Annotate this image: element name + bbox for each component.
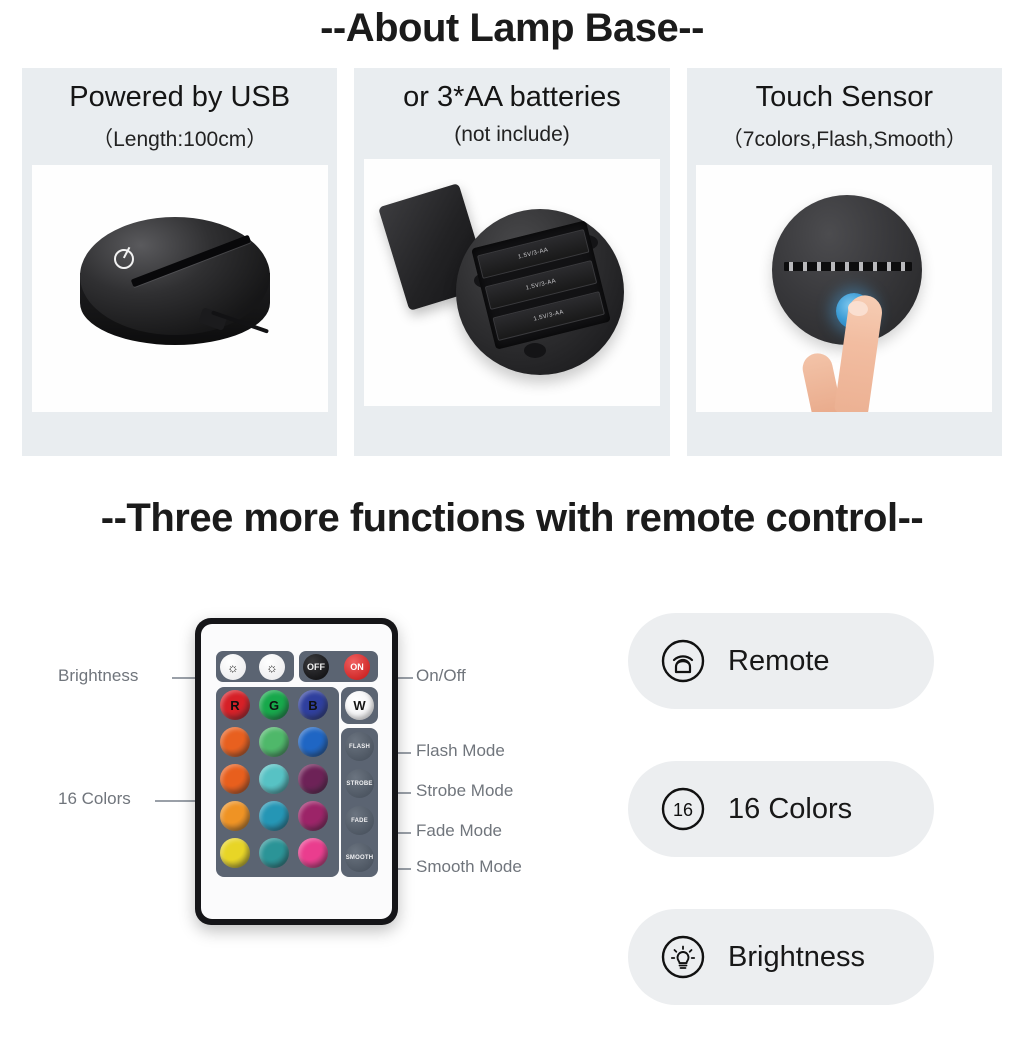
card-title: or 3*AA batteries xyxy=(403,80,621,115)
led-strip xyxy=(784,262,912,271)
color-button-2-2[interactable] xyxy=(298,764,328,794)
remote-signal-icon xyxy=(660,638,706,684)
flash-mode-button[interactable]: FLASH xyxy=(345,732,374,761)
feature-label: Remote xyxy=(728,645,830,678)
color-button-3-1[interactable] xyxy=(259,801,289,831)
touch-sensor-photo xyxy=(696,165,992,412)
color-button-1-0[interactable] xyxy=(220,727,250,757)
color-button-4-1[interactable] xyxy=(259,838,289,868)
color-button-3-2[interactable] xyxy=(298,801,328,831)
card-touch-sensor: Touch Sensor （7colors,Flash,Smooth） xyxy=(687,68,1002,456)
callout-on-off: On/Off xyxy=(416,666,466,686)
sixteen-circle-icon: 16 xyxy=(660,786,706,832)
color-button-2-0[interactable] xyxy=(220,764,250,794)
battery-compartment-photo: 1.5V/3-AA 1.5V/3-AA 1.5V/3-AA xyxy=(364,159,660,406)
color-button-3-0[interactable] xyxy=(220,801,250,831)
remote-face: ☼ ☼ OFF ON RGB W FLASHSTROBEFADESMOOTH xyxy=(201,624,392,919)
svg-text:16: 16 xyxy=(673,800,693,820)
color-button-g[interactable]: G xyxy=(259,690,289,720)
callout-fade-mode: Fade Mode xyxy=(416,821,502,841)
power-on-button[interactable]: ON xyxy=(344,654,370,680)
card-subtitle: （7colors,Flash,Smooth） xyxy=(722,123,967,153)
rubber-foot xyxy=(524,343,546,358)
color-button-2-1[interactable] xyxy=(259,764,289,794)
card-powered-by-usb: Powered by USB （Length:100cm） xyxy=(22,68,337,456)
callout-smooth-mode: Smooth Mode xyxy=(416,857,522,877)
page-title-about-lamp-base: --About Lamp Base-- xyxy=(0,6,1024,51)
feature-pill-list: Remote 16 16 Colors xyxy=(628,613,934,1057)
feature-pill-16-colors[interactable]: 16 16 Colors xyxy=(628,761,934,857)
color-button-r[interactable]: R xyxy=(220,690,250,720)
white-color-button[interactable]: W xyxy=(345,691,374,720)
color-button-1-1[interactable] xyxy=(259,727,289,757)
card-subtitle: （Length:100cm） xyxy=(92,123,267,153)
card-subtitle: (not include) xyxy=(454,123,570,147)
color-button-b[interactable]: B xyxy=(298,690,328,720)
brightness-down-button[interactable]: ☼ xyxy=(259,654,285,680)
brightness-up-button[interactable]: ☼ xyxy=(220,654,246,680)
card-title: Powered by USB xyxy=(69,80,290,115)
section-title-remote-functions: --Three more functions with remote contr… xyxy=(0,496,1024,541)
lamp-base-top xyxy=(80,217,270,335)
fade-mode-button[interactable]: FADE xyxy=(345,806,374,835)
feature-pill-brightness[interactable]: Brightness xyxy=(628,909,934,1005)
power-off-button[interactable]: OFF xyxy=(303,654,329,680)
remote-control-diagram: Brightness 16 Colors On/Off Flash Mode S… xyxy=(0,600,620,940)
brightness-bulb-icon xyxy=(660,934,706,980)
power-symbol-icon xyxy=(114,249,134,269)
callout-brightness: Brightness xyxy=(58,666,138,686)
feature-card-row: Powered by USB （Length:100cm） or 3*AA ba… xyxy=(22,68,1002,456)
color-button-4-0[interactable] xyxy=(220,838,250,868)
card-aa-batteries: or 3*AA batteries (not include) 1.5V/3-A… xyxy=(354,68,669,456)
color-button-4-2[interactable] xyxy=(298,838,328,868)
feature-label: 16 Colors xyxy=(728,793,852,826)
remote-control-body: ☼ ☼ OFF ON RGB W FLASHSTROBEFADESMOOTH xyxy=(195,618,398,925)
smooth-mode-button[interactable]: SMOOTH xyxy=(345,843,374,872)
feature-pill-remote[interactable]: Remote xyxy=(628,613,934,709)
color-button-1-2[interactable] xyxy=(298,727,328,757)
usb-lamp-base-photo xyxy=(32,165,328,412)
callout-16-colors: 16 Colors xyxy=(58,789,131,809)
card-title: Touch Sensor xyxy=(756,80,933,115)
strobe-mode-button[interactable]: STROBE xyxy=(345,769,374,798)
callout-flash-mode: Flash Mode xyxy=(416,741,505,761)
feature-label: Brightness xyxy=(728,941,865,974)
callout-strobe-mode: Strobe Mode xyxy=(416,781,513,801)
